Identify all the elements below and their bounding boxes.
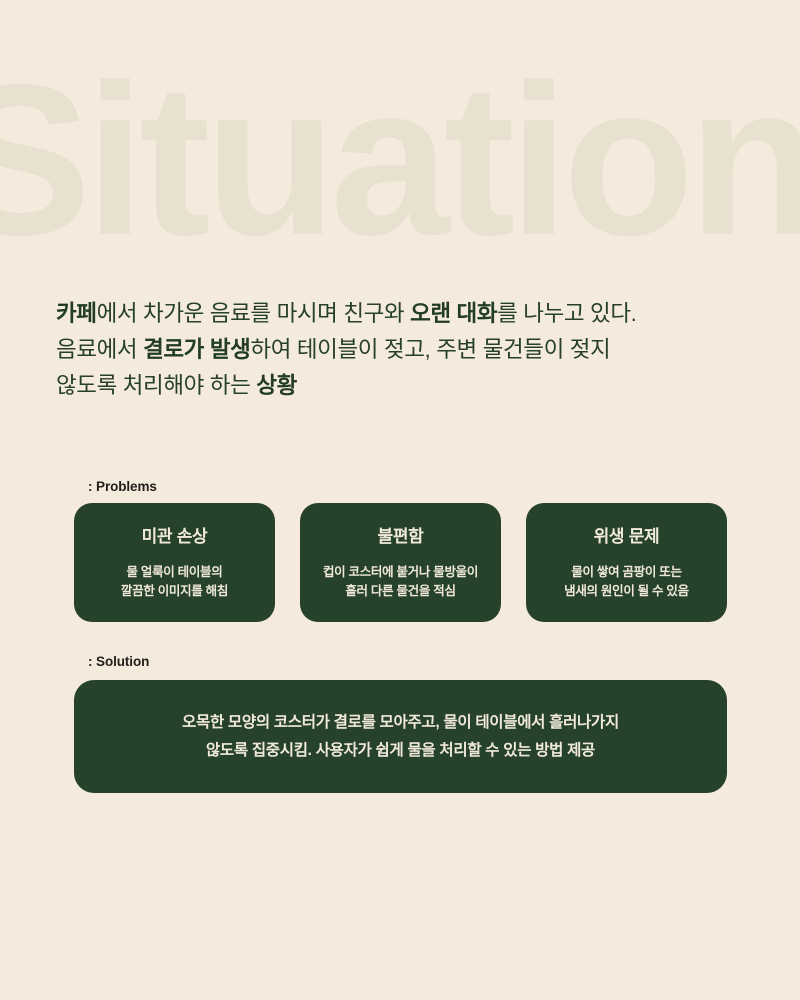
intro-line-2-head: 음료에서 (56, 337, 143, 362)
problem-card-body: 컵이 코스터에 붙거나 물방울이 흘러 다른 물건을 적심 (323, 563, 478, 601)
intro-line-1-tail: 를 나누고 있다. (497, 301, 636, 326)
problem-card-body-line: 깔끔한 이미지를 해침 (121, 582, 228, 601)
problems-section-label: : Problems (88, 479, 157, 494)
situation-slide: Situation 카페에서 차가운 음료를 마시며 친구와 오랜 대화를 나누… (0, 0, 800, 1000)
problem-card-title: 불편함 (377, 522, 423, 547)
watermark-heading: Situation (0, 52, 800, 267)
intro-paragraph: 카페에서 차가운 음료를 마시며 친구와 오랜 대화를 나누고 있다. 음료에서… (56, 296, 756, 404)
problem-card-body-line: 물이 쌓여 곰팡이 또는 (564, 563, 689, 582)
intro-highlight-cafe: 카페 (56, 301, 97, 326)
problem-card: 불편함 컵이 코스터에 붙거나 물방울이 흘러 다른 물건을 적심 (300, 503, 501, 622)
problem-card-body-line: 냄새의 원인이 될 수 있음 (564, 582, 689, 601)
problem-card-body-line: 물 얼룩이 테이블의 (121, 563, 228, 582)
problem-card-title: 위생 문제 (594, 522, 660, 547)
problems-card-row: 미관 손상 물 얼룩이 테이블의 깔끔한 이미지를 해침 불편함 컵이 코스터에… (74, 503, 727, 622)
solution-card-body: 오목한 모양의 코스터가 결로를 모아주고, 물이 테이블에서 흘러나가지 않도… (152, 709, 649, 765)
problem-card: 미관 손상 물 얼룩이 테이블의 깔끔한 이미지를 해침 (74, 503, 275, 622)
problem-card-body: 물이 쌓여 곰팡이 또는 냄새의 원인이 될 수 있음 (564, 563, 689, 601)
intro-highlight-condensation: 결로가 발생 (143, 337, 250, 362)
solution-section-label: : Solution (88, 654, 149, 669)
intro-highlight-long-talk: 오랜 대화 (410, 301, 497, 326)
intro-line-2-tail: 하여 테이블이 젖고, 주변 물건들이 젖지 (250, 337, 610, 362)
intro-highlight-situation: 상황 (256, 373, 297, 398)
problem-card-title: 미관 손상 (142, 522, 208, 547)
intro-line-3: 않도록 처리해야 하는 상황 (56, 368, 756, 404)
intro-line-2: 음료에서 결로가 발생하여 테이블이 젖고, 주변 물건들이 젖지 (56, 332, 756, 368)
solution-card-body-line: 오목한 모양의 코스터가 결로를 모아주고, 물이 테이블에서 흘러나가지 (182, 709, 619, 737)
problem-card-body-line: 컵이 코스터에 붙거나 물방울이 (323, 563, 478, 582)
intro-line-3-head: 않도록 처리해야 하는 (56, 373, 256, 398)
intro-line-1-text: 에서 차가운 음료를 마시며 친구와 (97, 301, 410, 326)
problem-card-body: 물 얼룩이 테이블의 깔끔한 이미지를 해침 (121, 563, 228, 601)
solution-card-body-line: 않도록 집중시킴. 사용자가 쉽게 물을 처리할 수 있는 방법 제공 (182, 737, 619, 765)
problem-card-body-line: 흘러 다른 물건을 적심 (323, 582, 478, 601)
intro-line-1: 카페에서 차가운 음료를 마시며 친구와 오랜 대화를 나누고 있다. (56, 296, 756, 332)
solution-card: 오목한 모양의 코스터가 결로를 모아주고, 물이 테이블에서 흘러나가지 않도… (74, 680, 727, 793)
problem-card: 위생 문제 물이 쌓여 곰팡이 또는 냄새의 원인이 될 수 있음 (526, 503, 727, 622)
